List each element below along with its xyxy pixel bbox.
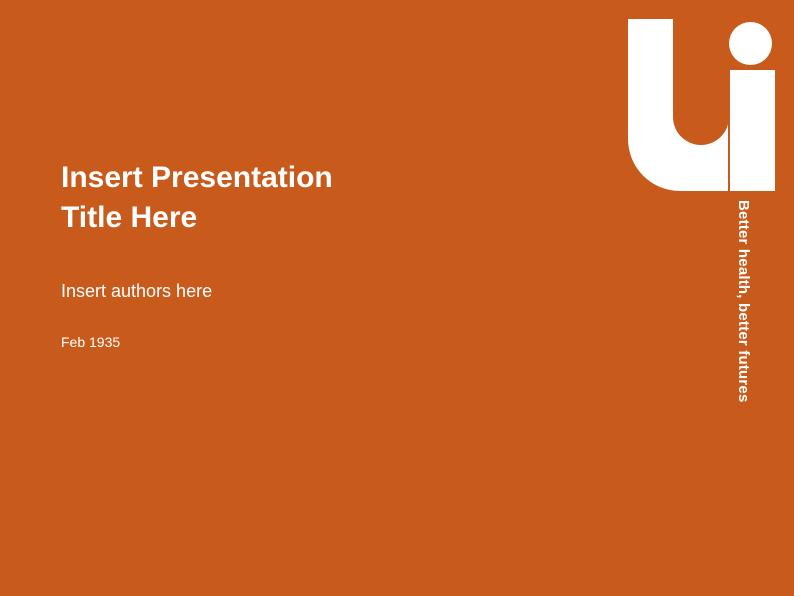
brand-mark-letter-u: [628, 19, 728, 191]
brand-tagline: Better health, better futures: [732, 200, 754, 415]
brand-mark-letter-i-stem: [730, 70, 775, 191]
brand-mark-letter-i-dot-icon: [729, 22, 772, 65]
footer-logo-bar: THE UNIVERSITY OF EDINBURGH THE UNIVERSI…: [0, 500, 794, 596]
authors-line: Insert authors here: [61, 279, 212, 303]
date-line: Feb 1935: [61, 332, 120, 352]
page-title: Insert Presentation Title Here: [61, 158, 581, 238]
presentation-slide: Better health, better futures Insert Pre…: [0, 0, 794, 596]
usher-institute-brand-mark-large: [628, 19, 776, 191]
title-block: Insert Presentation Title Here: [61, 158, 581, 238]
brand-mark-u-counter: [673, 17, 729, 145]
